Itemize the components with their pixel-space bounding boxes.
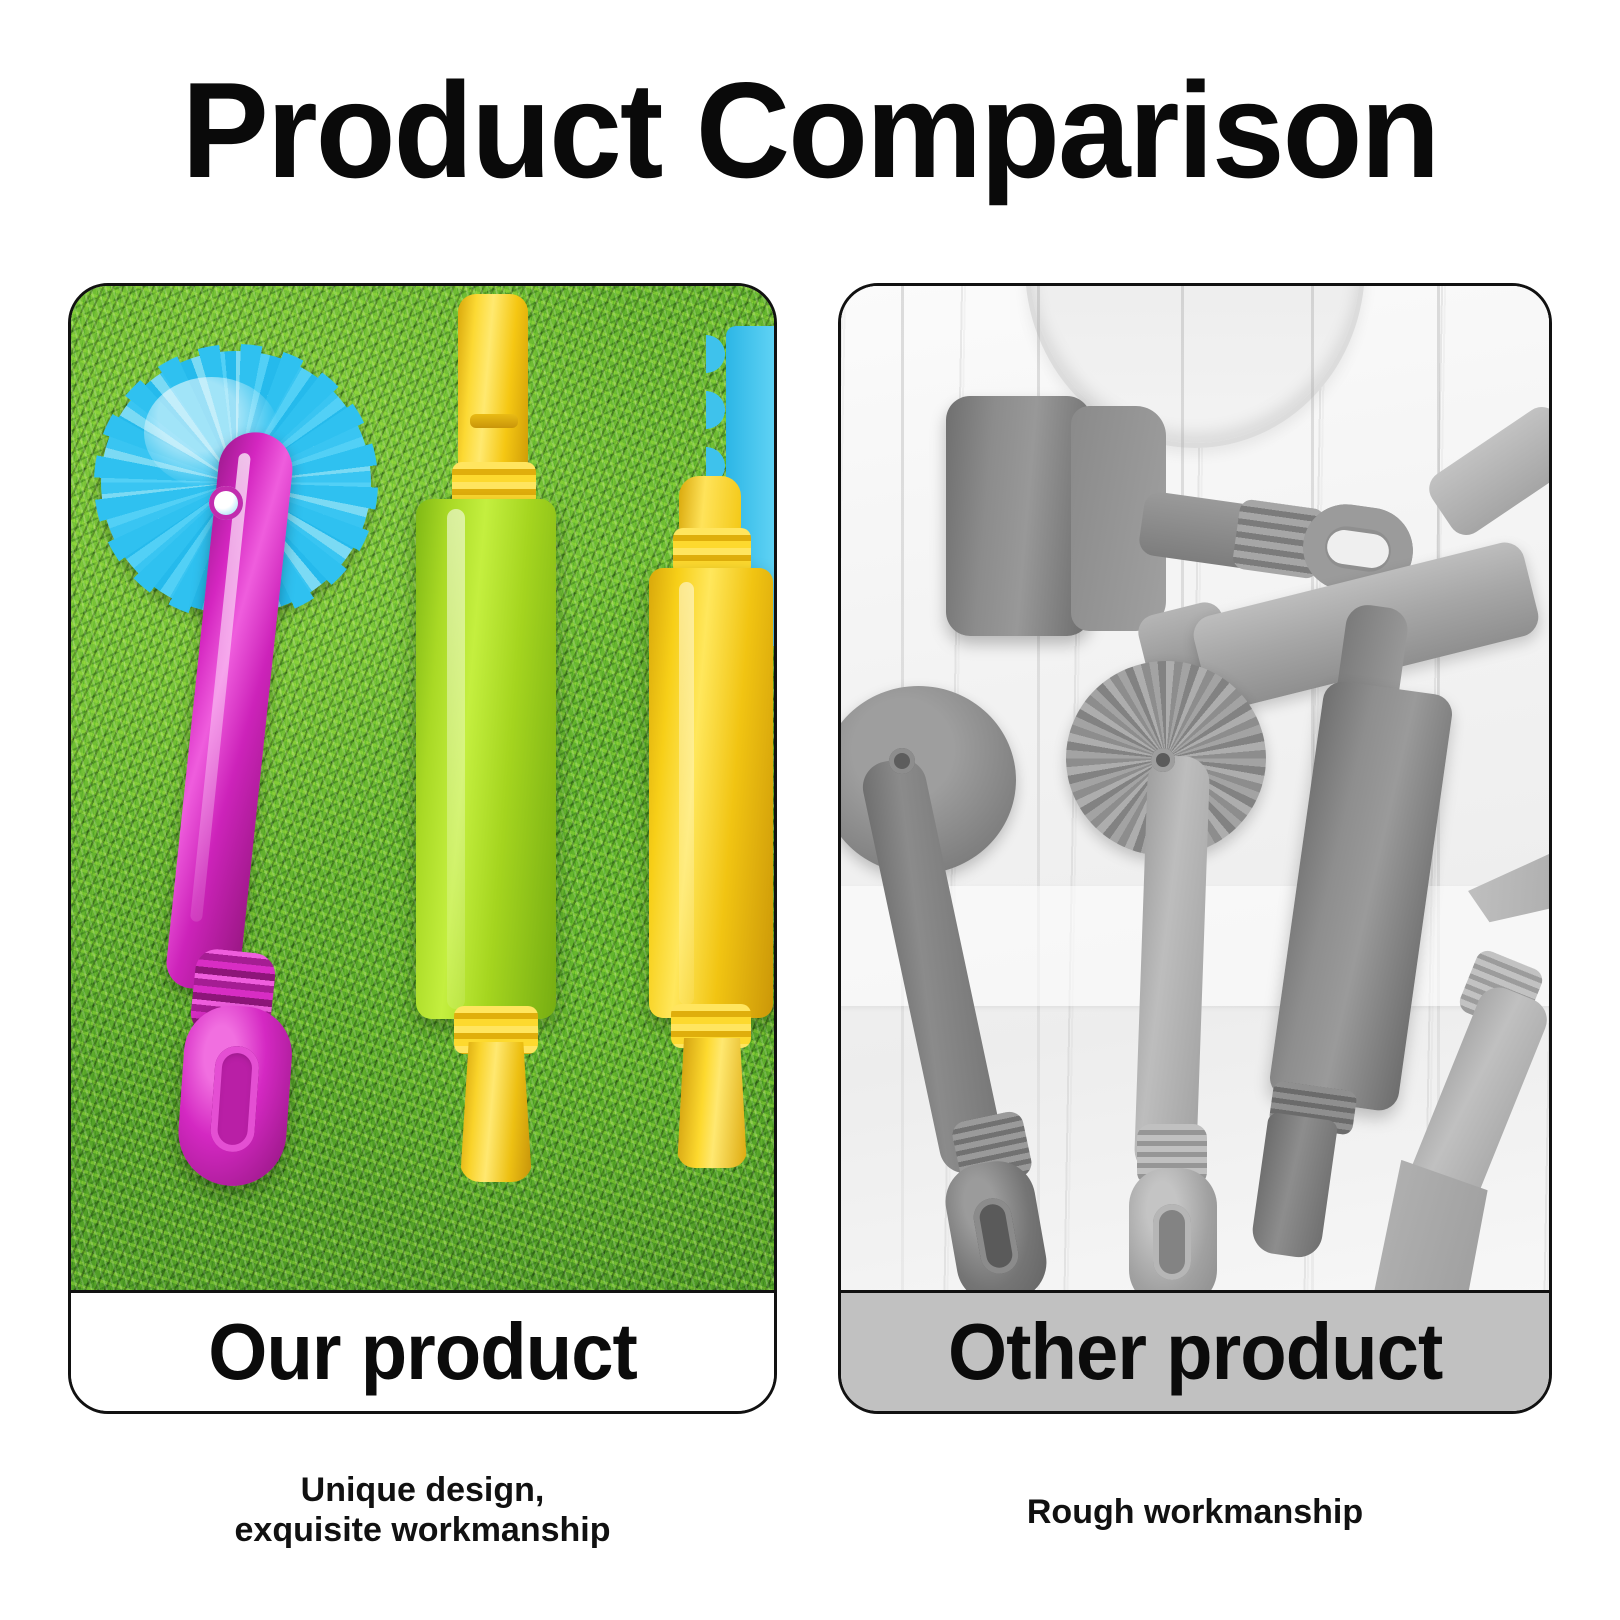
grey-roller-barrel <box>946 396 1091 636</box>
our-product-caption: Unique design, exquisite workmanship <box>68 1470 777 1550</box>
hanging-hole-icon <box>209 1045 260 1154</box>
grey-fluted-hanging-hole-icon <box>1153 1204 1191 1280</box>
magenta-cutter-tool <box>171 431 289 1131</box>
other-product-caption: Rough workmanship <box>838 1492 1552 1532</box>
other-product-card[interactable]: Other product <box>838 283 1552 1414</box>
other-product-photo <box>841 286 1549 1296</box>
green-pin-top-handle <box>458 294 528 474</box>
cutter-pivot-icon <box>209 486 243 520</box>
green-rolling-pin <box>416 294 556 1179</box>
yellow-pin-bottom-handle <box>677 1038 747 1168</box>
grey-cutter-pivot-icon <box>889 748 915 774</box>
grey-fluted-pivot-icon <box>1151 748 1175 772</box>
our-product-label: Our product <box>208 1312 637 1392</box>
other-product-label-bar: Other product <box>841 1290 1549 1411</box>
page-title: Product Comparison <box>32 62 1587 198</box>
our-product-label-bar: Our product <box>71 1290 774 1411</box>
our-product-card[interactable]: Our product <box>68 283 777 1414</box>
yellow-rolling-pin <box>631 476 771 1176</box>
magenta-handle-end <box>175 1002 295 1189</box>
green-pin-barrel <box>416 499 556 1019</box>
yellow-pin-barrel <box>649 568 773 1018</box>
other-product-label: Other product <box>948 1312 1442 1392</box>
our-product-photo <box>71 286 774 1296</box>
product-comparison-page: Product Comparison <box>0 0 1620 1620</box>
green-pin-bottom-handle <box>460 1042 532 1182</box>
